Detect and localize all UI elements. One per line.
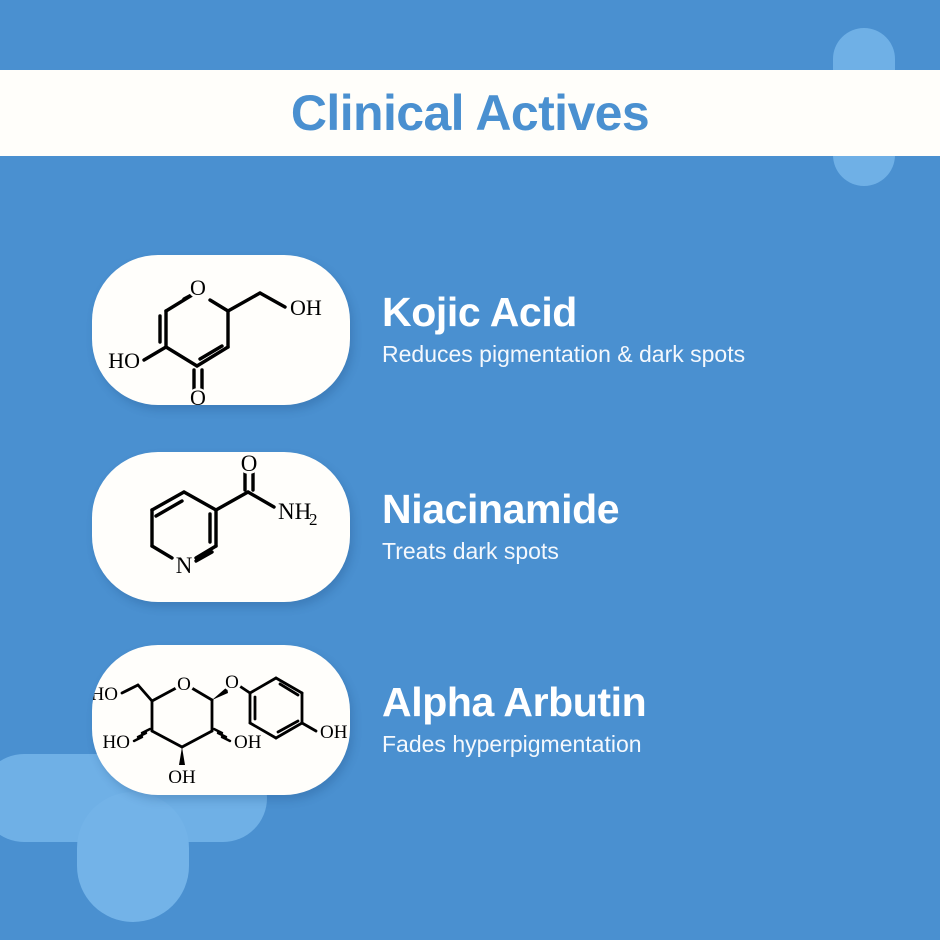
arbutin-ho-left-label: HO <box>103 732 130 753</box>
arbutin-oh-right-label: OH <box>234 732 262 753</box>
ingredient-name: Niacinamide <box>382 488 619 531</box>
kojic-hydroxymethyl-oh-label: OH <box>290 295 322 320</box>
kojic-left-ho-label: HO <box>108 348 140 373</box>
kojic-ring-oxygen-label-top: O <box>190 275 206 300</box>
niacinamide-amide-nh-label: NH <box>278 499 311 524</box>
ingredient-name: Alpha Arbutin <box>382 681 646 724</box>
arbutin-oh-bottom-label: OH <box>168 767 196 788</box>
arbutin-wedge-bottom <box>179 747 185 765</box>
list-item: O NH 2 N Niacinamide Treats dark spots <box>0 452 940 602</box>
ingredient-text-block: Niacinamide Treats dark spots <box>382 488 619 566</box>
arbutin-ho-top-label: HO <box>92 684 118 705</box>
ingredient-name: Kojic Acid <box>382 291 745 334</box>
alpha-arbutin-structure-icon: HO O O HO OH OH OH <box>92 645 350 795</box>
ingredient-description: Treats dark spots <box>382 538 619 566</box>
ingredient-text-block: Kojic Acid Reduces pigmentation & dark s… <box>382 291 745 369</box>
niacinamide-structure-icon: O NH 2 N <box>92 452 350 602</box>
page-title: Clinical Actives <box>291 88 649 138</box>
niacinamide-carbonyl-oxygen-label: O <box>241 452 258 476</box>
molecule-card-niacinamide: O NH 2 N <box>92 452 350 602</box>
niacinamide-amide-subscript-label: 2 <box>309 510 318 529</box>
header-band: Clinical Actives <box>0 70 940 156</box>
kojic-acid-structure-icon: O OH HO O O O <box>92 255 350 405</box>
ingredient-description: Reduces pigmentation & dark spots <box>382 341 745 369</box>
arbutin-ring-oxygen-label: O <box>177 674 191 695</box>
list-item: HO O O HO OH OH OH Alpha Arbutin Fades h… <box>0 645 940 795</box>
arbutin-glycosidic-oxygen-label: O <box>225 672 239 693</box>
ingredient-description: Fades hyperpigmentation <box>382 731 646 759</box>
poster-canvas: Clinical Actives <box>0 0 940 940</box>
list-item: O OH HO O O O Koj <box>0 255 940 405</box>
niacinamide-ring-nitrogen-label: N <box>176 553 193 578</box>
ingredient-text-block: Alpha Arbutin Fades hyperpigmentation <box>382 681 646 759</box>
molecule-card-kojic-acid: O OH HO O O O <box>92 255 350 405</box>
arbutin-phenol-oh-label: OH <box>320 722 348 743</box>
kojic-ketone-oxygen-label-bottom: O <box>190 385 206 405</box>
molecule-card-alpha-arbutin: HO O O HO OH OH OH <box>92 645 350 795</box>
